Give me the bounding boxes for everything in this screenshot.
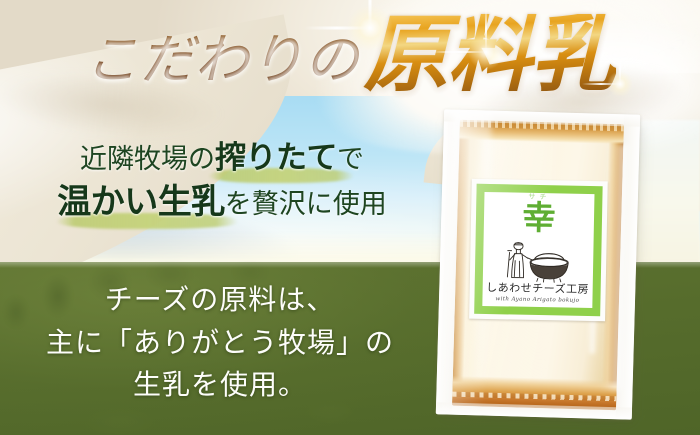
product-label: サチ 幸 — [469, 179, 608, 322]
green-copy-line-1: チーズの原料は、 — [10, 280, 430, 323]
label-kanji-sachi: 幸 — [522, 203, 556, 237]
sky-line1-highlight: 搾りたて — [215, 140, 337, 175]
product-package-photo: サチ 幸 — [436, 109, 640, 419]
label-content: サチ 幸 — [482, 192, 594, 308]
promo-banner: こだわりの 原料乳 近隣牧場の搾りたてで 温かい生乳を贅沢に使用 チーズの原料は… — [0, 0, 700, 435]
green-copy-line-2: 主に「ありがとう牧場」の — [10, 323, 430, 366]
sky-section-copy: 近隣牧場の搾りたてで 温かい生乳を贅沢に使用 — [22, 142, 422, 220]
green-copy-line-3: 生乳を使用。 — [10, 365, 430, 408]
label-shop-name: しあわせチーズ工房 — [486, 283, 589, 296]
sky-copy-line-2: 温かい生乳を贅沢に使用 — [22, 185, 422, 221]
plastic-pouch: サチ 幸 — [436, 109, 640, 419]
sky-copy-line-1: 近隣牧場の搾りたてで — [22, 142, 422, 175]
headline-lead-text: こだわりの — [84, 33, 363, 87]
headline-emphasis-text: 原料乳 — [363, 14, 615, 98]
green-section-copy: チーズの原料は、 主に「ありがとう牧場」の 生乳を使用。 — [10, 280, 430, 408]
cheesemaker-cauldron-illustration — [492, 238, 585, 284]
cauldron-icon — [492, 238, 585, 284]
sky-line1-part1: 近隣牧場の — [80, 144, 215, 174]
page-title: こだわりの 原料乳 — [0, 6, 700, 110]
label-sub-name: with Ayano Arigato bokujo — [495, 297, 579, 304]
sky-line2-part1: を贅沢に使用 — [225, 189, 387, 219]
sky-line1-part2: で — [337, 144, 364, 174]
sky-line2-highlight: 温かい生乳 — [57, 184, 225, 221]
